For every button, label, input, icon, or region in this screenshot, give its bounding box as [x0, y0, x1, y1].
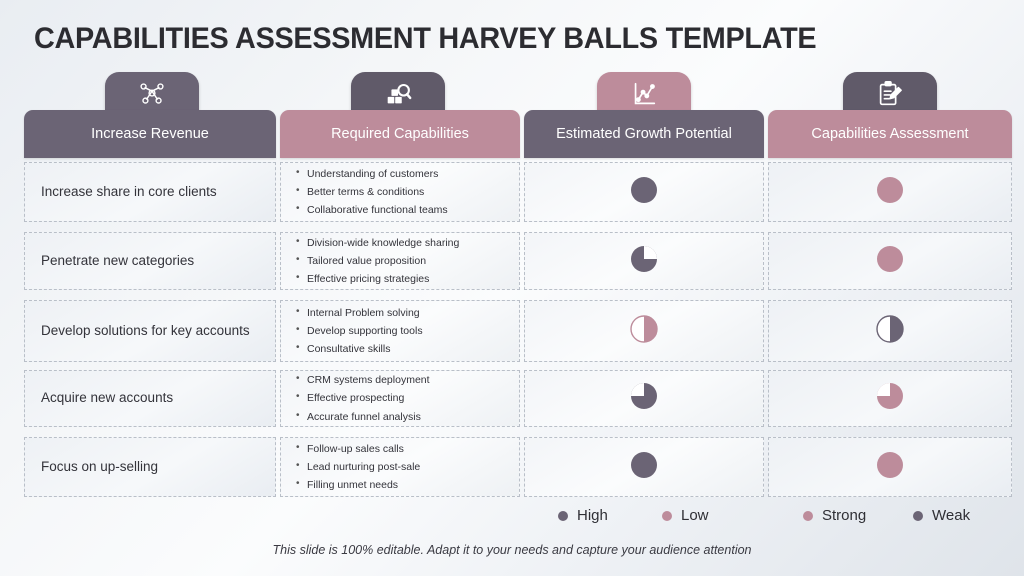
legend-label: High — [577, 507, 608, 524]
list-item: Effective pricing strategies — [307, 270, 509, 288]
list-item: Understanding of customers — [307, 165, 509, 183]
legend-label: Strong — [822, 507, 866, 524]
capabilities-list: Follow-up sales calls Lead nurturing pos… — [281, 440, 519, 494]
legend-dot-high — [558, 511, 568, 521]
table-row: Penetrate new categories — [24, 232, 276, 290]
legend-item-high: High — [558, 507, 608, 524]
growth-potential-cell — [524, 232, 764, 290]
network-hub-icon — [137, 79, 167, 109]
list-item: Better terms & conditions — [307, 183, 509, 201]
column-header-increase-revenue: Increase Revenue — [24, 110, 276, 158]
capabilities-cell: CRM systems deployment Effective prospec… — [280, 370, 520, 427]
list-item: Follow-up sales calls — [307, 440, 509, 458]
legend-dot-low — [662, 511, 672, 521]
list-item: Accurate funnel analysis — [307, 408, 509, 426]
objective-label: Penetrate new categories — [25, 252, 210, 270]
growth-potential-cell — [524, 370, 764, 427]
table-row: Acquire new accounts — [24, 370, 276, 427]
footer-note: This slide is 100% editable. Adapt it to… — [0, 543, 1024, 557]
capabilities-cell: Division-wide knowledge sharing Tailored… — [280, 232, 520, 290]
list-item: Consultative skills — [307, 340, 509, 358]
harvey-ball-assessment — [876, 382, 904, 415]
harvey-ball-growth — [630, 451, 658, 484]
clipboard-pencil-icon — [875, 79, 905, 109]
capabilities-list: Understanding of customers Better terms … — [281, 165, 519, 219]
column-header-label: Required Capabilities — [331, 126, 469, 142]
list-item: Filling unmet needs — [307, 476, 509, 494]
legend-item-low: Low — [662, 507, 709, 524]
assessment-cell — [768, 300, 1012, 362]
legend-item-strong: Strong — [803, 507, 866, 524]
table-row: Increase share in core clients — [24, 162, 276, 222]
blocks-magnifier-icon — [383, 79, 413, 109]
list-item: Lead nurturing post-sale — [307, 458, 509, 476]
column-header-capabilities-assessment: Capabilities Assessment — [768, 110, 1012, 158]
legend-item-weak: Weak — [913, 507, 970, 524]
harvey-ball-growth — [630, 315, 658, 348]
harvey-ball-assessment — [876, 451, 904, 484]
growth-potential-cell — [524, 437, 764, 497]
assessment-cell — [768, 232, 1012, 290]
harvey-ball-assessment — [876, 245, 904, 278]
table-row: Develop solutions for key accounts — [24, 300, 276, 362]
growth-potential-cell — [524, 300, 764, 362]
harvey-ball-growth — [630, 245, 658, 278]
harvey-ball-growth — [630, 176, 658, 209]
assessment-cell — [768, 370, 1012, 427]
list-item: Effective prospecting — [307, 389, 509, 407]
column-header-estimated-growth-potential: Estimated Growth Potential — [524, 110, 764, 158]
legend-label: Weak — [932, 507, 970, 524]
capabilities-list: Internal Problem solving Develop support… — [281, 304, 519, 358]
legend-dot-weak — [913, 511, 923, 521]
capabilities-cell: Internal Problem solving Develop support… — [280, 300, 520, 362]
list-item: Develop supporting tools — [307, 322, 509, 340]
harvey-ball-assessment — [876, 315, 904, 348]
line-chart-icon — [629, 79, 659, 109]
column-header-label: Increase Revenue — [91, 126, 209, 142]
list-item: CRM systems deployment — [307, 371, 509, 389]
growth-potential-cell — [524, 162, 764, 222]
objective-label: Acquire new accounts — [25, 389, 189, 407]
legend-dot-strong — [803, 511, 813, 521]
objective-label: Develop solutions for key accounts — [25, 322, 266, 340]
capabilities-list: Division-wide knowledge sharing Tailored… — [281, 234, 519, 288]
list-item: Division-wide knowledge sharing — [307, 234, 509, 252]
list-item: Internal Problem solving — [307, 304, 509, 322]
assessment-cell — [768, 162, 1012, 222]
capabilities-list: CRM systems deployment Effective prospec… — [281, 371, 519, 425]
assessment-cell — [768, 437, 1012, 497]
list-item: Tailored value proposition — [307, 252, 509, 270]
column-header-label: Estimated Growth Potential — [556, 126, 732, 142]
capabilities-cell: Follow-up sales calls Lead nurturing pos… — [280, 437, 520, 497]
harvey-ball-assessment — [876, 176, 904, 209]
legend-label: Low — [681, 507, 709, 524]
list-item: Collaborative functional teams — [307, 201, 509, 219]
table-row: Focus on up-selling — [24, 437, 276, 497]
capabilities-cell: Understanding of customers Better terms … — [280, 162, 520, 222]
objective-label: Increase share in core clients — [25, 183, 233, 201]
column-header-label: Capabilities Assessment — [811, 126, 968, 142]
capabilities-matrix: Increase Revenue Required Capabilities E… — [0, 0, 1024, 576]
harvey-ball-growth — [630, 382, 658, 415]
objective-label: Focus on up-selling — [25, 458, 174, 476]
column-header-required-capabilities: Required Capabilities — [280, 110, 520, 158]
